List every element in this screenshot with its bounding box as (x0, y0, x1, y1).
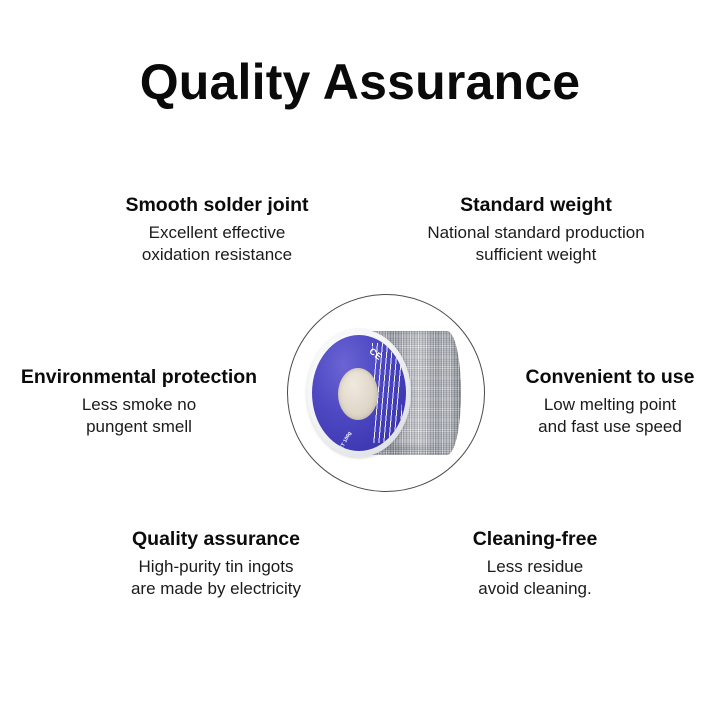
feature-cleaning-free: Cleaning-free Less residue avoid cleanin… (425, 528, 645, 601)
feature-quality-assurance: Quality assurance High-purity tin ingots… (76, 528, 356, 601)
feature-description: Low melting point and fast use speed (500, 394, 720, 439)
feature-description: Less residue avoid cleaning. (425, 556, 645, 601)
feature-description: National standard production sufficient … (396, 222, 676, 267)
feature-description: Excellent effective oxidation resistance (67, 222, 367, 267)
feature-description: High-purity tin ingots are made by elect… (76, 556, 356, 601)
page-title: Quality Assurance (0, 56, 720, 109)
brand-text-curve: SUPER SOLDER WIRE (312, 335, 406, 451)
feature-title: Cleaning-free (425, 528, 645, 551)
feature-title: Smooth solder joint (67, 194, 367, 217)
feature-convenient-to-use: Convenient to use Low melting point and … (500, 366, 720, 439)
feature-title: Convenient to use (500, 366, 720, 389)
feature-title: Environmental protection (8, 366, 270, 389)
product-image-circle: SUPER SOLDER WIRE CE 0.6 0.8 1.0 0.8 0.6… (287, 294, 485, 492)
feature-smooth-solder-joint: Smooth solder joint Excellent effective … (67, 194, 367, 267)
quality-assurance-poster: Quality Assurance Smooth solder joint Ex… (0, 0, 720, 720)
feature-description: Less smoke no pungent smell (8, 394, 270, 439)
svg-text:SUPER SOLDER WIRE: SUPER SOLDER WIRE (312, 335, 343, 436)
feature-title: Standard weight (396, 194, 676, 217)
brand-name: SUPER SOLDER WIRE (312, 335, 343, 436)
solder-wire-spool: SUPER SOLDER WIRE CE 0.6 0.8 1.0 0.8 0.6… (299, 329, 467, 457)
feature-environmental-protection: Environmental protection Less smoke no p… (8, 366, 270, 439)
feature-standard-weight: Standard weight National standard produc… (396, 194, 676, 267)
feature-title: Quality assurance (76, 528, 356, 551)
product-label: SUPER SOLDER WIRE CE 0.6 0.8 1.0 0.8 0.6… (312, 335, 406, 451)
